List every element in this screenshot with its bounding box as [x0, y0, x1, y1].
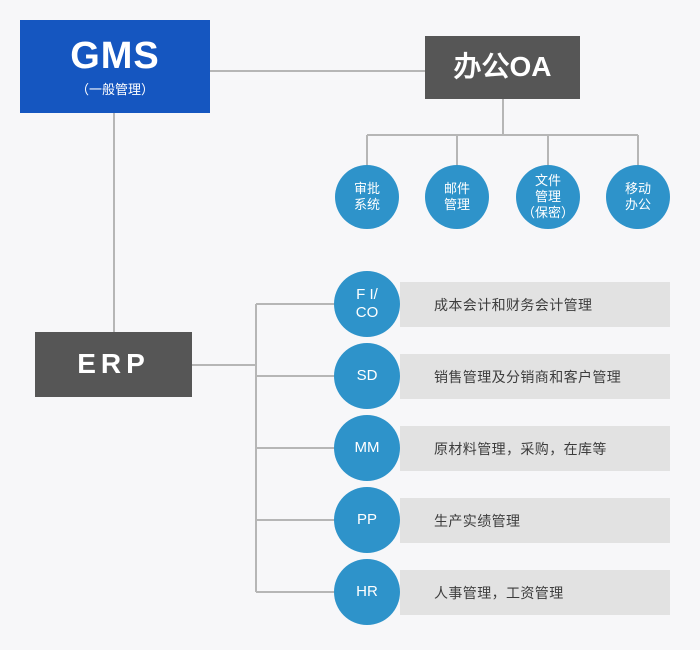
oa-child-circle[interactable]: 邮件管理 — [425, 165, 489, 229]
erp-module-code: HR — [356, 583, 378, 601]
erp-title: ERP — [77, 349, 150, 380]
erp-module-description-text: 原材料管理，采购，在库等 — [434, 439, 607, 459]
erp-module-description-bar: 原材料管理，采购，在库等 — [400, 426, 670, 471]
erp-module-circle[interactable]: PP — [334, 487, 400, 553]
erp-module-circle[interactable]: SD — [334, 343, 400, 409]
erp-module-description-text: 人事管理，工资管理 — [434, 583, 564, 603]
erp-module-code: F I/CO — [356, 286, 379, 323]
erp-node[interactable]: ERP — [35, 332, 192, 397]
org-diagram: 成本会计和财务会计管理销售管理及分销商和客户管理原材料管理，采购，在库等生产实绩… — [0, 0, 700, 650]
erp-module-code: MM — [355, 439, 380, 457]
oa-title: 办公OA — [453, 52, 551, 83]
oa-child-label: 邮件管理 — [444, 181, 470, 213]
gms-title: GMS — [70, 36, 160, 78]
erp-module-circle[interactable]: HR — [334, 559, 400, 625]
erp-module-circle[interactable]: MM — [334, 415, 400, 481]
erp-module-description-text: 销售管理及分销商和客户管理 — [434, 367, 621, 387]
erp-module-description-text: 生产实绩管理 — [434, 511, 520, 531]
oa-child-label: 审批系统 — [354, 181, 380, 213]
oa-child-circle[interactable]: 移动办公 — [606, 165, 670, 229]
erp-module-circle[interactable]: F I/CO — [334, 271, 400, 337]
oa-node[interactable]: 办公OA — [425, 36, 580, 99]
erp-module-description-bar: 成本会计和财务会计管理 — [400, 282, 670, 327]
oa-child-label: 文件管理（保密） — [522, 173, 574, 221]
erp-module-description-text: 成本会计和财务会计管理 — [434, 295, 592, 315]
erp-module-description-bar: 人事管理，工资管理 — [400, 570, 670, 615]
erp-module-code: SD — [357, 367, 378, 385]
erp-module-description-bar: 生产实绩管理 — [400, 498, 670, 543]
oa-child-circle[interactable]: 审批系统 — [335, 165, 399, 229]
gms-subtitle: （一般管理） — [76, 82, 154, 98]
erp-module-description-bar: 销售管理及分销商和客户管理 — [400, 354, 670, 399]
erp-module-code: PP — [357, 511, 377, 529]
gms-node[interactable]: GMS （一般管理） — [20, 20, 210, 113]
oa-child-circle[interactable]: 文件管理（保密） — [516, 165, 580, 229]
oa-child-label: 移动办公 — [625, 181, 651, 213]
